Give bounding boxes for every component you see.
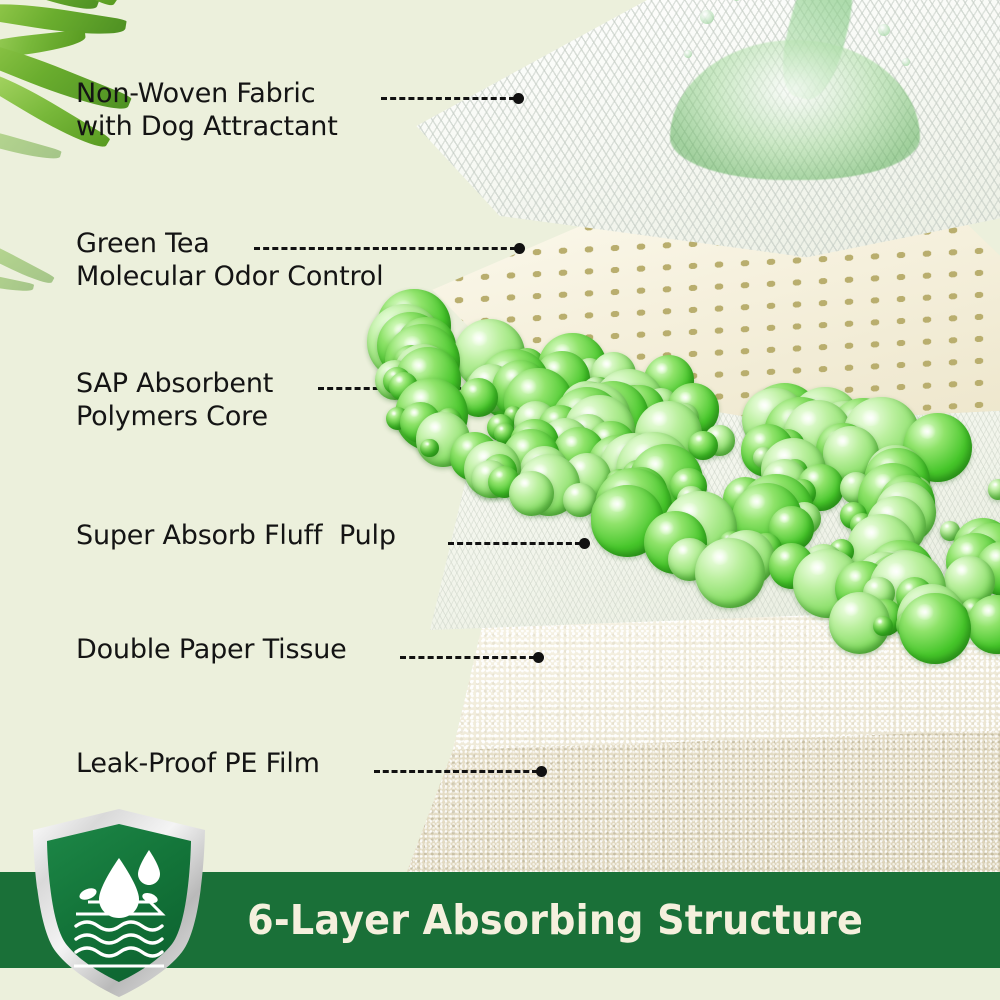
leader-dashes: [448, 542, 581, 545]
leader-line-non-woven-fabric: [381, 93, 524, 104]
leader-dashes: [381, 97, 515, 100]
callout-label-text: Super Absorb Fluff Pulp: [76, 520, 396, 553]
water-droplet: [700, 10, 714, 24]
sap-bead: [988, 479, 1000, 499]
leader-endpoint-dot: [514, 243, 525, 254]
water-droplet: [732, 0, 741, 1]
water-droplet: [684, 50, 692, 58]
infographic-canvas: Non-Woven Fabricwith Dog Attractant Gree…: [0, 0, 1000, 1000]
leader-line-leak-proof-pe-film: [374, 766, 547, 777]
leader-endpoint-dot: [579, 538, 590, 549]
callout-non-woven-fabric: Non-Woven Fabricwith Dog Attractant: [76, 78, 338, 144]
callout-double-paper-tissue: Double Paper Tissue: [76, 634, 347, 667]
callout-line-2: Molecular Odor Control: [76, 261, 383, 292]
callout-fluff-pulp: Super Absorb Fluff Pulp: [76, 520, 396, 553]
banner-title: 6-Layer Absorbing Structure: [247, 896, 863, 944]
leader-line-double-paper-tissue: [400, 652, 544, 663]
leader-line-green-tea: [254, 243, 525, 254]
sap-bead: [899, 593, 971, 665]
callout-label-text: Green TeaMolecular Odor Control: [76, 228, 383, 294]
callout-label-text: Non-Woven Fabricwith Dog Attractant: [76, 78, 338, 144]
sap-bead: [873, 616, 893, 636]
shield-icon: [28, 806, 210, 1000]
leader-endpoint-dot: [513, 93, 524, 104]
callout-line-2: Polymers Core: [76, 401, 268, 432]
callout-line-1: Super Absorb Fluff Pulp: [76, 520, 396, 551]
sap-bead: [509, 471, 554, 516]
water-splash-graphic: [640, 0, 970, 210]
callout-green-tea: Green TeaMolecular Odor Control: [76, 228, 383, 294]
callout-line-1: Non-Woven Fabric: [76, 78, 315, 109]
leader-endpoint-dot: [533, 652, 544, 663]
callout-line-1: SAP Absorbent: [76, 368, 273, 399]
absorbency-shield-badge: [28, 806, 210, 1000]
callout-line-1: Green Tea: [76, 228, 210, 259]
water-droplet: [902, 58, 910, 66]
callout-leak-proof-pe-film: Leak-Proof PE Film: [76, 748, 320, 781]
leader-dashes: [374, 770, 538, 773]
callout-line-2: with Dog Attractant: [76, 111, 338, 142]
callout-label-text: SAP AbsorbentPolymers Core: [76, 368, 273, 434]
callout-sap-core: SAP AbsorbentPolymers Core: [76, 368, 273, 434]
leader-dashes: [400, 656, 535, 659]
water-droplet: [878, 24, 890, 36]
sap-bead: [695, 538, 765, 608]
callout-label-text: Leak-Proof PE Film: [76, 748, 320, 781]
leader-line-fluff-pulp: [448, 538, 590, 549]
leader-endpoint-dot: [536, 766, 547, 777]
callout-line-1: Leak-Proof PE Film: [76, 748, 320, 779]
water-crown: [670, 40, 920, 180]
callout-line-1: Double Paper Tissue: [76, 634, 347, 665]
callout-label-text: Double Paper Tissue: [76, 634, 347, 667]
leader-dashes: [254, 247, 516, 250]
